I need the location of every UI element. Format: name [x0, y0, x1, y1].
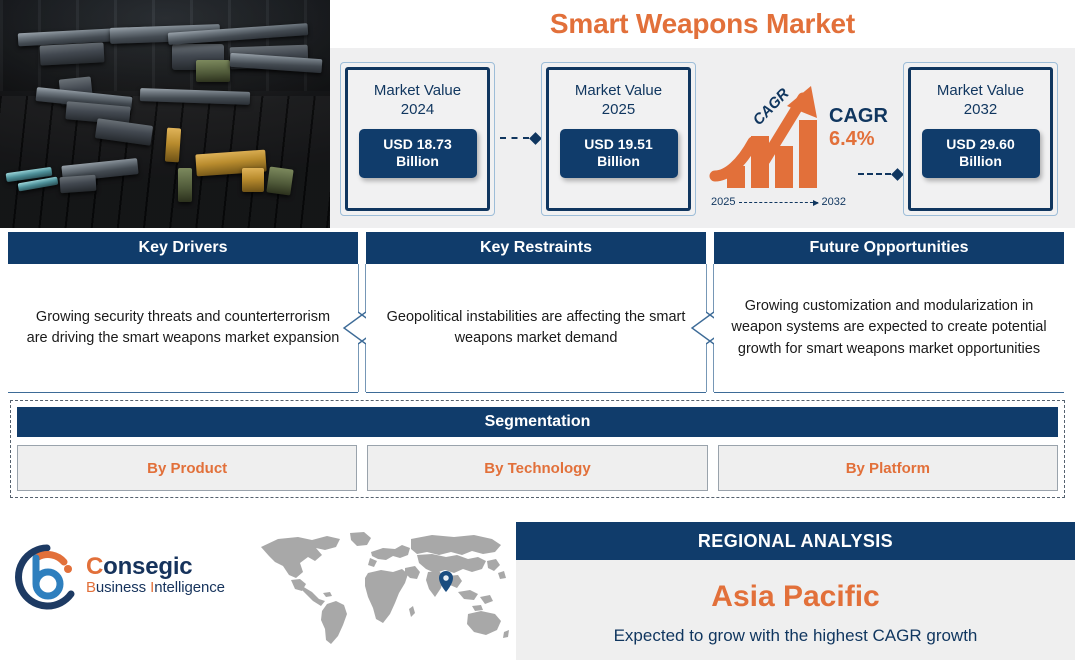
panel-heading: Future Opportunities: [714, 232, 1064, 264]
segment-by-technology[interactable]: By Technology: [367, 445, 707, 491]
panel-bottom-rule: [714, 392, 1064, 393]
connector-2024-to-2025: [500, 132, 540, 144]
market-value-label: Market Value 2025: [575, 82, 662, 120]
market-value-card-inner: Market Value 2025 USD 19.51 Billion: [546, 67, 691, 211]
market-value-card-2032: Market Value 2032 USD 29.60 Billion: [903, 62, 1058, 216]
market-value-amount-line1: USD 19.51: [584, 136, 652, 152]
connector-dash: [858, 173, 891, 175]
cagr-year-start: 2025: [711, 196, 735, 208]
market-value-card-inner: Market Value 2024 USD 18.73 Billion: [345, 67, 490, 211]
segment-by-product[interactable]: By Product: [17, 445, 357, 491]
regional-analysis-card: REGIONAL ANALYSIS Asia Pacific Expected …: [516, 522, 1075, 660]
panel-heading: Key Restraints: [366, 232, 706, 264]
market-value-amount: USD 19.51 Billion: [560, 129, 678, 178]
regional-analysis-subtitle: Expected to grow with the highest CAGR g…: [516, 626, 1075, 646]
footer-row: Consegic Business Intelligence: [0, 512, 1075, 660]
market-value-amount: USD 29.60 Billion: [922, 129, 1040, 178]
growth-chart-icon: CAGR: [707, 80, 832, 198]
map-location-pin-icon: [439, 571, 453, 592]
world-map-icon: [252, 530, 510, 648]
segmentation-items: By Product By Technology By Platform: [17, 445, 1058, 491]
cagr-title: CAGR: [829, 106, 888, 126]
cagr-year-arrow-icon: [739, 202, 817, 203]
connector-diamond-icon: [891, 168, 904, 181]
panel-bottom-rule: [366, 392, 706, 393]
market-value-label-line1: Market Value: [374, 82, 461, 99]
cagr-year-end: 2032: [822, 196, 846, 208]
cagr-value-block: CAGR 6.4%: [829, 106, 888, 152]
connector-cagr-to-2032: [858, 168, 902, 180]
market-value-label-line1: Market Value: [575, 82, 662, 99]
top-band: Smart Weapons Market Market Value 2024 U…: [0, 0, 1075, 228]
market-value-amount-unit: Billion: [959, 153, 1002, 169]
market-value-card-inner: Market Value 2032 USD 29.60 Billion: [908, 67, 1053, 211]
logo-brand-name: Consegic: [86, 554, 225, 579]
regional-analysis-region-name: Asia Pacific: [516, 580, 1075, 614]
market-value-year: 2032: [964, 101, 997, 118]
panel-key-drivers: Key Drivers Growing security threats and…: [8, 232, 358, 392]
photo-wood-planks: [0, 96, 330, 228]
market-value-year: 2025: [602, 101, 635, 118]
market-value-amount-line1: USD 18.73: [383, 136, 451, 152]
logo-brand-rest: onsegic: [103, 553, 192, 580]
segmentation-heading: Segmentation: [17, 407, 1058, 437]
panel-text: Growing customization and modularization…: [714, 264, 1064, 392]
segment-by-platform[interactable]: By Platform: [718, 445, 1058, 491]
cagr-growth-block: CAGR CAGR 6.4% 2025 2032: [707, 80, 897, 215]
market-value-amount-line1: USD 29.60: [946, 136, 1014, 152]
cagr-year-range: 2025 2032: [711, 196, 846, 208]
panel-future-opportunities: Future Opportunities Growing customizati…: [714, 232, 1064, 392]
segmentation-section: Segmentation By Product By Technology By…: [10, 400, 1065, 498]
consegic-logo[interactable]: Consegic Business Intelligence: [14, 544, 249, 616]
market-value-amount: USD 18.73 Billion: [359, 129, 477, 178]
panel-text: Growing security threats and counterterr…: [8, 264, 358, 392]
market-value-card-2024: Market Value 2024 USD 18.73 Billion: [340, 62, 495, 216]
panel-text: Geopolitical instabilities are affecting…: [366, 264, 706, 392]
market-value-label-line1: Market Value: [937, 82, 1024, 99]
market-value-label: Market Value 2024: [374, 82, 461, 120]
market-value-amount-unit: Billion: [396, 153, 439, 169]
panel-key-restraints: Key Restraints Geopolitical instabilitie…: [366, 232, 706, 392]
logo-tagline: Business Intelligence: [86, 579, 225, 596]
consegic-logo-wordmark: Consegic Business Intelligence: [86, 554, 225, 596]
page-title: Smart Weapons Market: [330, 8, 1075, 40]
panel-heading: Key Drivers: [8, 232, 358, 264]
logo-tagline-ntelligence: ntelligence: [154, 579, 225, 596]
panel-bottom-rule: [8, 392, 358, 393]
market-value-card-2025: Market Value 2025 USD 19.51 Billion: [541, 62, 696, 216]
connector-dash: [500, 137, 529, 139]
cagr-percent: 6.4%: [829, 126, 888, 152]
logo-tagline-usiness: usiness: [96, 579, 150, 596]
market-value-amount-unit: Billion: [597, 153, 640, 169]
logo-tagline-b: B: [86, 579, 96, 596]
consegic-logo-mark-icon: [14, 544, 80, 610]
logo-brand-first-letter: C: [86, 553, 103, 580]
regional-analysis-heading: REGIONAL ANALYSIS: [516, 522, 1075, 560]
weapons-photo: [0, 0, 330, 228]
drivers-restraints-opportunities-row: Key Drivers Growing security threats and…: [0, 232, 1075, 392]
market-value-label: Market Value 2032: [937, 82, 1024, 120]
market-value-year: 2024: [401, 101, 434, 118]
connector-diamond-icon: [529, 132, 542, 145]
